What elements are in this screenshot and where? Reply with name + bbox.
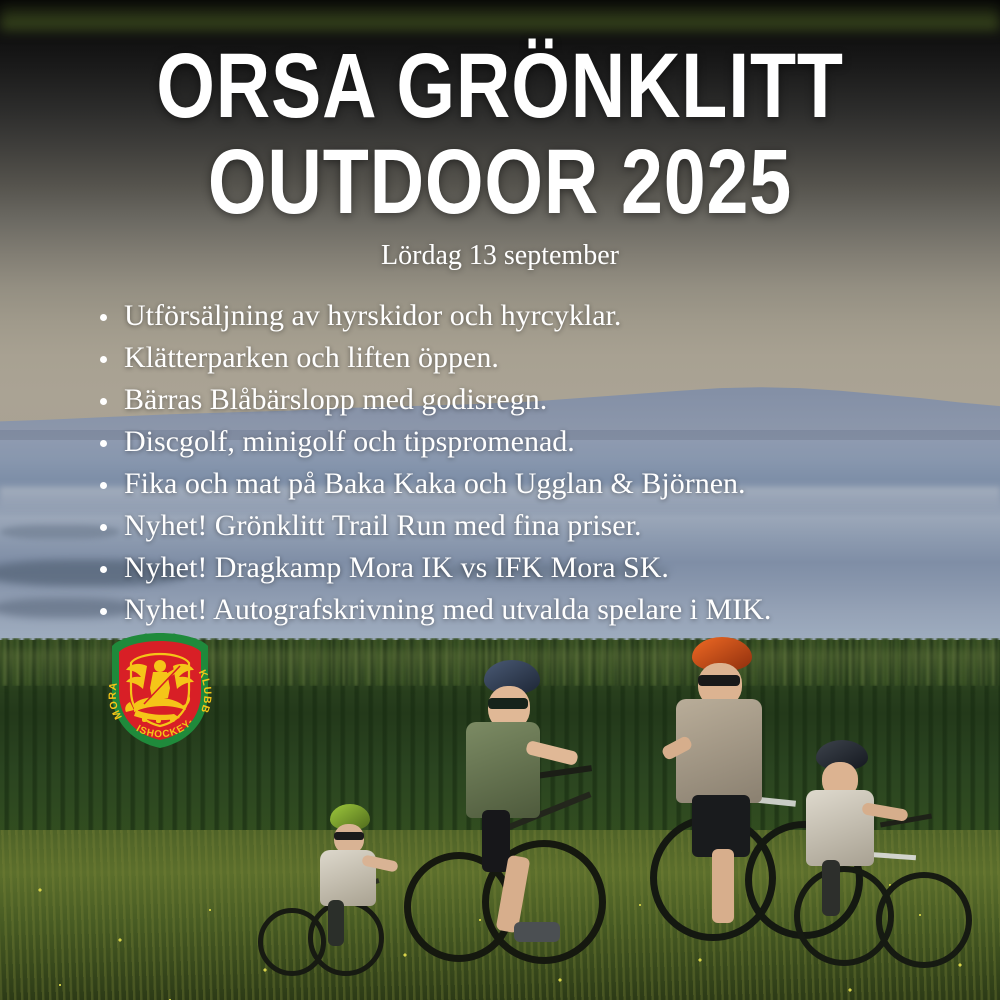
cyclist-child-left — [300, 800, 420, 980]
list-item: Nyhet! Grönklitt Trail Run med fina pris… — [96, 505, 976, 547]
cyclist-leg — [328, 900, 344, 946]
page-title-line-1: ORSA GRÖNKLITT — [90, 44, 910, 130]
list-item: Nyhet! Dragkamp Mora IK vs IFK Mora SK. — [96, 547, 976, 589]
bicycle-wheel — [258, 908, 326, 976]
cyclist-torso — [806, 790, 874, 866]
cycling-shoe — [514, 922, 560, 942]
list-item: Nyhet! Autografskrivning med utvalda spe… — [96, 589, 976, 631]
sunglasses — [488, 698, 528, 709]
list-item: Bärras Blåbärslopp med godisregn. — [96, 379, 976, 421]
sunglasses — [334, 832, 364, 840]
cyclist-torso — [466, 722, 540, 818]
cyclist-leg — [692, 795, 750, 857]
cyclist-torso — [676, 699, 762, 803]
event-date-subtitle: Lördag 13 september — [0, 240, 1000, 272]
activities-list: Utförsäljning av hyrskidor och hyrcyklar… — [96, 295, 976, 631]
cyclist-leg — [712, 849, 734, 923]
club-logos-row: MORA KLUBB ISHOCKEY- — [96, 626, 416, 754]
meadow-blend — [0, 0, 1000, 30]
list-item: Discgolf, minigolf och tipspromenad. — [96, 421, 976, 463]
bicycle-wheel — [876, 872, 972, 968]
list-item: Klätterparken och liften öppen. — [96, 337, 976, 379]
cyclist-leg — [822, 860, 840, 916]
cyclist-woman-center — [430, 660, 610, 960]
page-title-line-2: OUTDOOR 2025 — [90, 140, 910, 226]
poster-canvas: ORSA GRÖNKLITT OUTDOOR 2025 Lördag 13 se… — [0, 0, 1000, 1000]
list-item: Utförsäljning av hyrskidor och hyrcyklar… — [96, 295, 976, 337]
cyclist-leg — [482, 810, 510, 872]
cyclist-child-right — [800, 740, 970, 990]
mora-ik-logo: MORA KLUBB ISHOCKEY- — [100, 630, 220, 750]
list-item: Fika och mat på Baka Kaka och Ugglan & B… — [96, 463, 976, 505]
sunglasses — [698, 675, 740, 686]
